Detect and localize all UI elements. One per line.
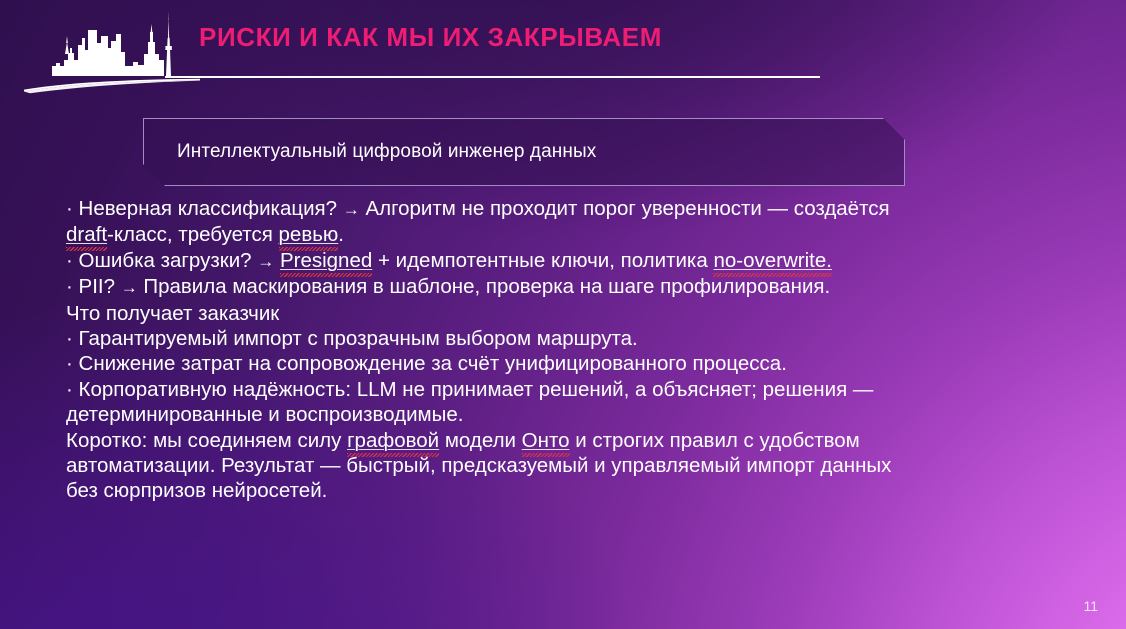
body-paragraph: · Корпоративную надёжность: LLM не прини… (66, 377, 902, 428)
body-text-run: Коротко: мы соединяем силу (66, 429, 347, 452)
spellcheck-flagged-word: draft (66, 223, 107, 246)
body-paragraph: Что получает заказчик (66, 301, 902, 326)
body-text-run: · PII? (66, 275, 121, 298)
body-text-run: · Снижение затрат на сопровождение за сч… (66, 352, 787, 375)
body-paragraph: · Неверная классификация? → Алгоритм не … (66, 196, 902, 248)
slide-header: РИСКИ И КАК МЫ ИХ ЗАКРЫВАЕМ (0, 0, 1126, 100)
body-text-run: модели (439, 429, 522, 452)
body-text-run: -класс, требуется (107, 223, 278, 246)
arrow-icon: → (121, 278, 138, 297)
page-number: 11 (1083, 598, 1098, 614)
spellcheck-flagged-word: ревью (279, 223, 339, 246)
slide-body-text: · Неверная классификация? → Алгоритм не … (66, 196, 902, 504)
body-paragraph: Коротко: мы соединяем силу графовой моде… (66, 428, 902, 504)
callout-box (143, 118, 905, 186)
body-text-run: Алгоритм не проходит порог уверенности —… (360, 197, 890, 220)
spellcheck-flagged-word: графовой (347, 429, 439, 452)
presentation-slide: РИСКИ И КАК МЫ ИХ ЗАКРЫВАЕМ Интеллектуал… (0, 0, 1126, 629)
spellcheck-flagged-word: no-overwrite. (713, 249, 832, 272)
body-text-run: · Гарантируемый импорт с прозрачным выбо… (66, 327, 638, 350)
body-paragraph: · Ошибка загрузки? → Presigned + идемпот… (66, 248, 902, 274)
body-text-run: Правила маскирования в шаблоне, проверка… (138, 275, 831, 298)
body-paragraph: · Гарантируемый импорт с прозрачным выбо… (66, 326, 902, 351)
page-title: РИСКИ И КАК МЫ ИХ ЗАКРЫВАЕМ (199, 22, 662, 53)
body-text-run: Что получает заказчик (66, 302, 279, 325)
body-text-run: · Неверная классификация? (66, 197, 343, 220)
title-divider-rule (165, 76, 820, 78)
body-paragraph: · Снижение затрат на сопровождение за сч… (66, 351, 902, 376)
body-paragraph: · PII? → Правила маскирования в шаблоне,… (66, 274, 902, 300)
arrow-icon: → (343, 200, 360, 219)
body-text-run: · Корпоративную надёжность: LLM не прини… (66, 378, 873, 426)
city-skyline-icon (22, 8, 202, 94)
body-text-run: + идемпотентные ключи, политика (372, 249, 713, 272)
body-text-run: . (338, 223, 344, 246)
body-text-run: · Ошибка загрузки? (66, 249, 257, 272)
arrow-icon: → (257, 252, 274, 271)
spellcheck-flagged-word: Онто (522, 429, 570, 452)
spellcheck-flagged-word: Presigned (280, 249, 372, 272)
